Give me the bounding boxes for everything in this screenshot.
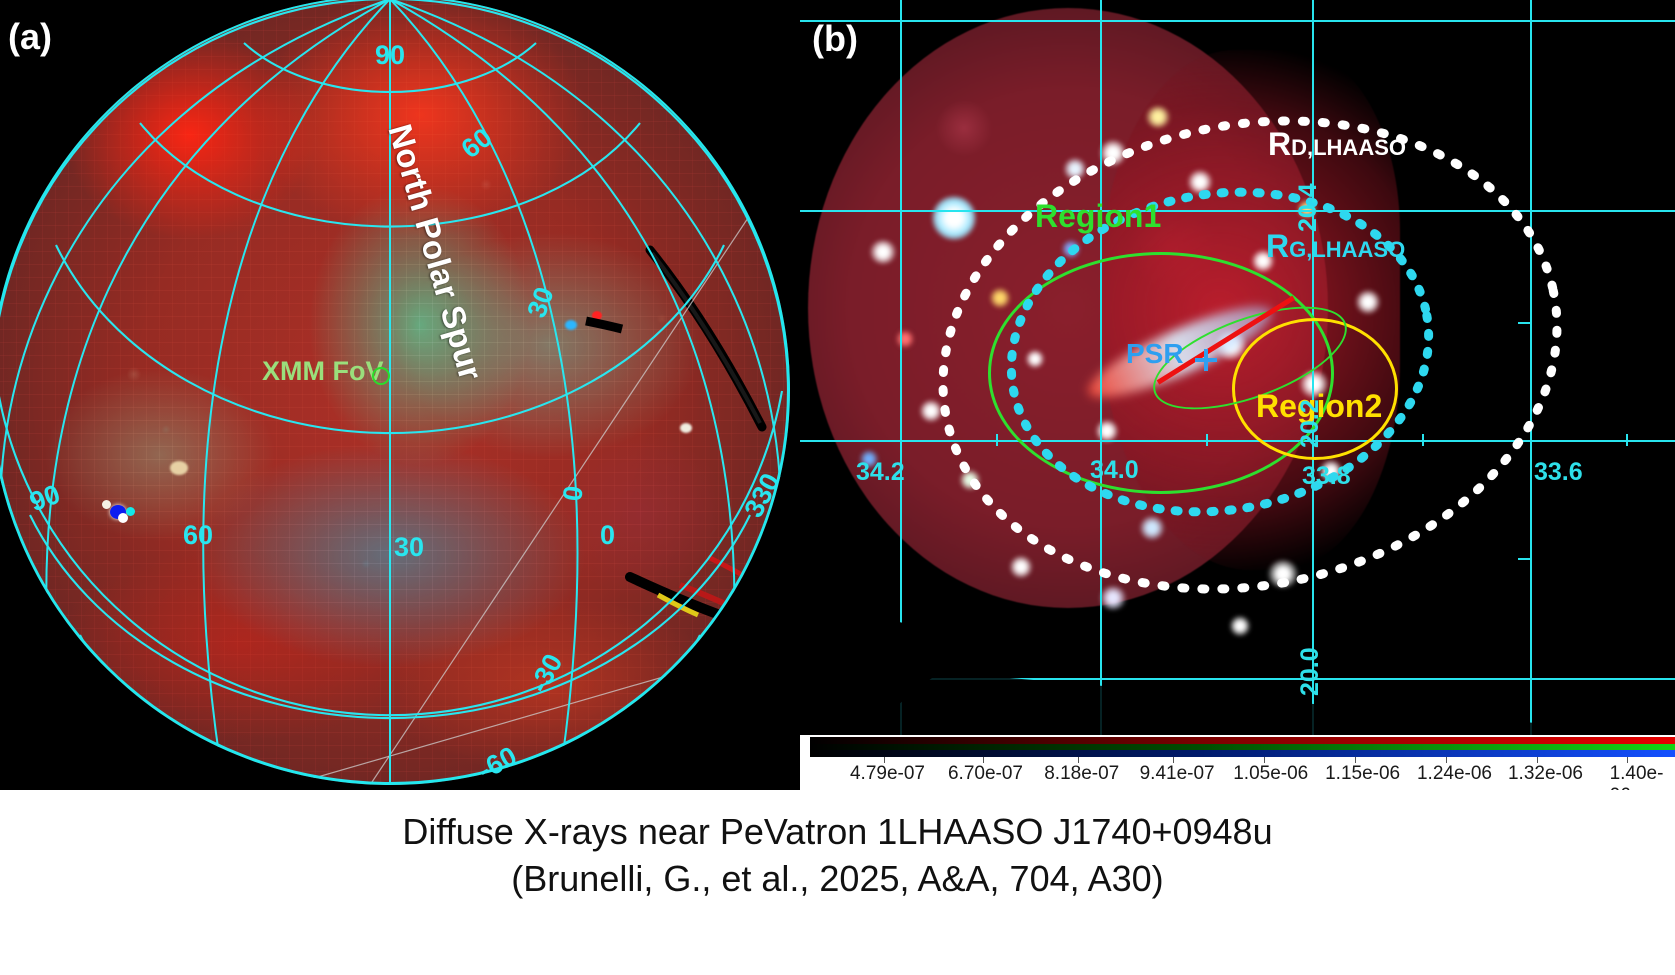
rg-lhaaso-label-sub: G,LHAASO <box>1289 237 1405 262</box>
colorbar-tick-label: 6.70e-07 <box>948 763 1023 785</box>
colorbar-area: 4.79e-07 6.70e-07 8.18e-07 9.41e-07 1.05… <box>800 735 1675 790</box>
panel-a-tag: (a) <box>8 16 52 58</box>
rd-lhaaso-label: RD,LHAASO <box>1268 126 1406 163</box>
graticule-label: 60 <box>183 520 213 551</box>
panel-b-xmm-mosaic: PSR (b) <box>800 0 1675 790</box>
axis-tick-label-x: 34.0 <box>1090 456 1139 485</box>
graticule-label: 0 <box>600 520 615 551</box>
axis-tick-label-x: 33.6 <box>1534 458 1583 487</box>
caption-line-1: Diffuse X-rays near PeVatron 1LHAASO J17… <box>402 809 1272 856</box>
colorbar-red-band <box>810 737 1675 744</box>
xmm-mosaic-field: PSR <box>800 0 1675 735</box>
graticule-label: 30 <box>394 532 424 563</box>
colorbar-tick-label: 8.18e-07 <box>1044 763 1119 785</box>
colorbar-tick-label: 1.24e-06 <box>1417 763 1492 785</box>
rg-lhaaso-label: RG,LHAASO <box>1266 228 1405 265</box>
mosaic-footprint-mask <box>800 0 1675 735</box>
axis-tick-label-y: 20.0 <box>1296 647 1325 696</box>
rd-lhaaso-label-sub: D,LHAASO <box>1291 135 1406 160</box>
colorbar-gradient <box>810 737 1675 757</box>
axis-tick-label-x: 34.2 <box>856 458 905 487</box>
axis-tick-label-x: 33.8 <box>1302 462 1351 491</box>
region1-label: Region1 <box>1035 198 1161 235</box>
rg-lhaaso-label-main: R <box>1266 228 1289 264</box>
allsky-globe-image <box>0 0 790 785</box>
caption-line-2: (Brunelli, G., et al., 2025, A&A, 704, A… <box>511 856 1163 903</box>
colorbar-tick-label: 1.15e-06 <box>1325 763 1400 785</box>
figure-caption: Diffuse X-rays near PeVatron 1LHAASO J17… <box>0 795 1675 975</box>
galactic-graticule <box>0 0 790 785</box>
panel-a-allsky-map: 90 60 30 0 330 90 60 30 0 -30 -60 North … <box>0 0 800 790</box>
colorbar-tick-label: 9.41e-07 <box>1140 763 1215 785</box>
panel-b-tag: (b) <box>812 18 858 60</box>
colorbar-labels: 4.79e-07 6.70e-07 8.18e-07 9.41e-07 1.05… <box>800 763 1675 789</box>
graticule-label: 90 <box>375 40 405 71</box>
xmm-fov-label: XMM FoV <box>262 356 384 387</box>
colorbar-tick-label: 1.32e-06 <box>1508 763 1583 785</box>
figure-root: 90 60 30 0 330 90 60 30 0 -30 -60 North … <box>0 0 1675 975</box>
colorbar-tick-label: 1.40e-06 <box>1610 763 1664 790</box>
allsky-globe <box>0 0 800 790</box>
axis-tick-label-y: 20.4 <box>1294 183 1323 232</box>
axis-tick-label-y: 20.2 <box>1296 399 1325 448</box>
rd-lhaaso-label-main: R <box>1268 126 1291 162</box>
colorbar-tick-label: 4.79e-07 <box>850 763 925 785</box>
colorbar-green-band <box>810 744 1675 751</box>
xmm-fov-marker <box>372 367 390 385</box>
colorbar-tick-label: 1.05e-06 <box>1233 763 1308 785</box>
